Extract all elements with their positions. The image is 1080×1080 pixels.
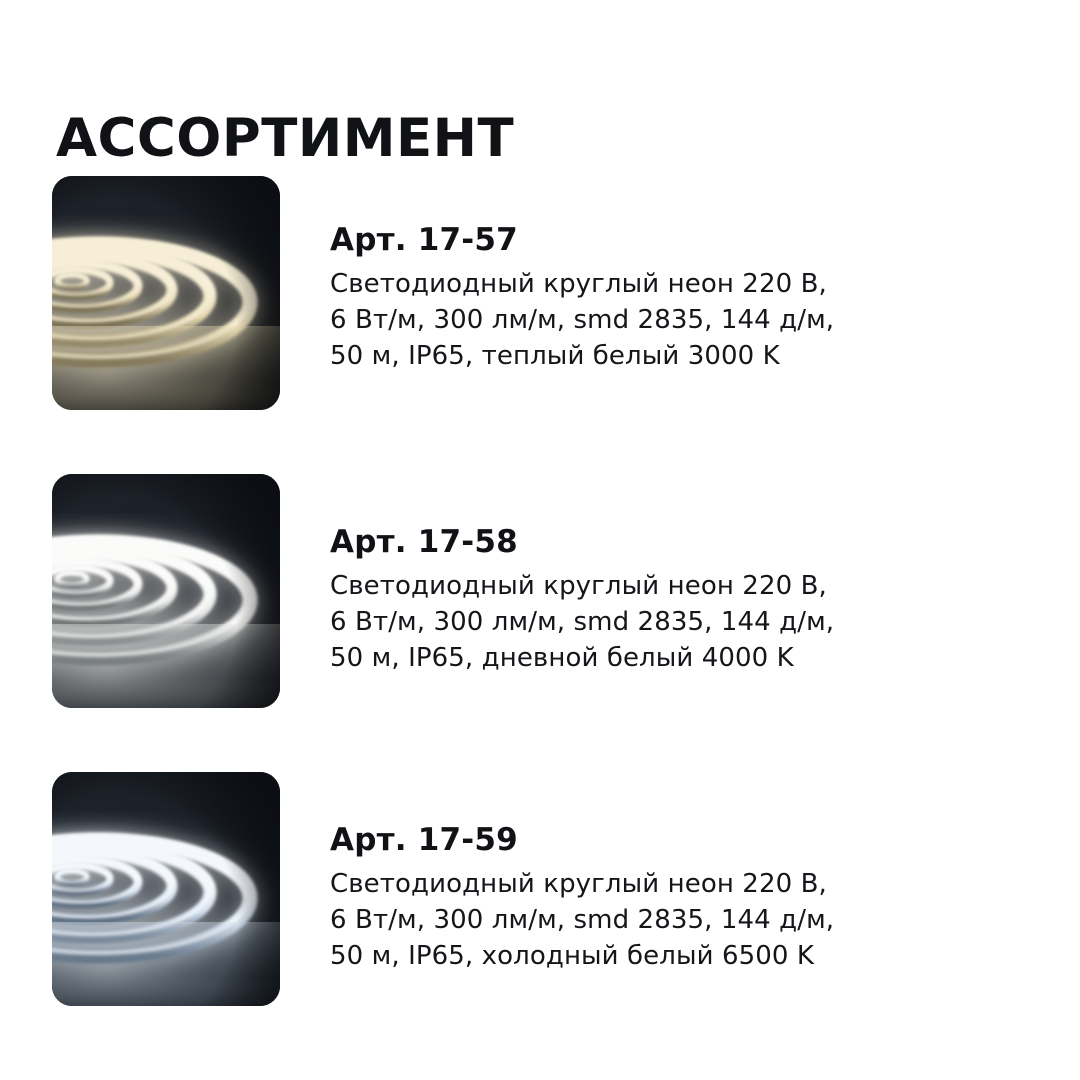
product-row-1: Арт. 17-57 Светодиодный круглый неон 220…: [0, 176, 1080, 410]
product-description: Светодиодный круглый неон 220 В,6 Вт/м, …: [330, 568, 970, 676]
description-line: 50 м, IP65, теплый белый 3000 K: [330, 338, 970, 374]
product-row-2: Арт. 17-58 Светодиодный круглый неон 220…: [0, 474, 1080, 708]
product-thumbnail[interactable]: [52, 474, 280, 708]
product-info: Арт. 17-57 Светодиодный круглый неон 220…: [330, 222, 970, 374]
description-line: 6 Вт/м, 300 лм/м, smd 2835, 144 д/м,: [330, 302, 970, 338]
product-thumbnail[interactable]: [52, 772, 280, 1006]
product-list: Арт. 17-57 Светодиодный круглый неон 220…: [0, 176, 1080, 1006]
description-line: 50 м, IP65, холодный белый 6500 K: [330, 938, 970, 974]
description-line: 6 Вт/м, 300 лм/м, smd 2835, 144 д/м,: [330, 902, 970, 938]
page-title: АССОРТИМЕНТ: [56, 110, 514, 168]
assortment-page: АССОРТИМЕНТ Арт. 17-57 Светодиодный круг…: [0, 0, 1080, 1080]
product-description: Светодиодный круглый неон 220 В,6 Вт/м, …: [330, 866, 970, 974]
led-neon-coil-icon: [52, 474, 280, 708]
description-line: Светодиодный круглый неон 220 В,: [330, 266, 970, 302]
product-article-label: Арт. 17-57: [330, 222, 970, 258]
description-line: 50 м, IP65, дневной белый 4000 K: [330, 640, 970, 676]
product-row-3: Арт. 17-59 Светодиодный круглый неон 220…: [0, 772, 1080, 1006]
product-article-label: Арт. 17-58: [330, 524, 970, 560]
led-neon-coil-icon: [52, 772, 280, 1006]
product-info: Арт. 17-58 Светодиодный круглый неон 220…: [330, 524, 970, 676]
description-line: Светодиодный круглый неон 220 В,: [330, 568, 970, 604]
description-line: 6 Вт/м, 300 лм/м, smd 2835, 144 д/м,: [330, 604, 970, 640]
product-article-label: Арт. 17-59: [330, 822, 970, 858]
product-thumbnail[interactable]: [52, 176, 280, 410]
description-line: Светодиодный круглый неон 220 В,: [330, 866, 970, 902]
product-description: Светодиодный круглый неон 220 В,6 Вт/м, …: [330, 266, 970, 374]
led-neon-coil-icon: [52, 176, 280, 410]
product-info: Арт. 17-59 Светодиодный круглый неон 220…: [330, 822, 970, 974]
